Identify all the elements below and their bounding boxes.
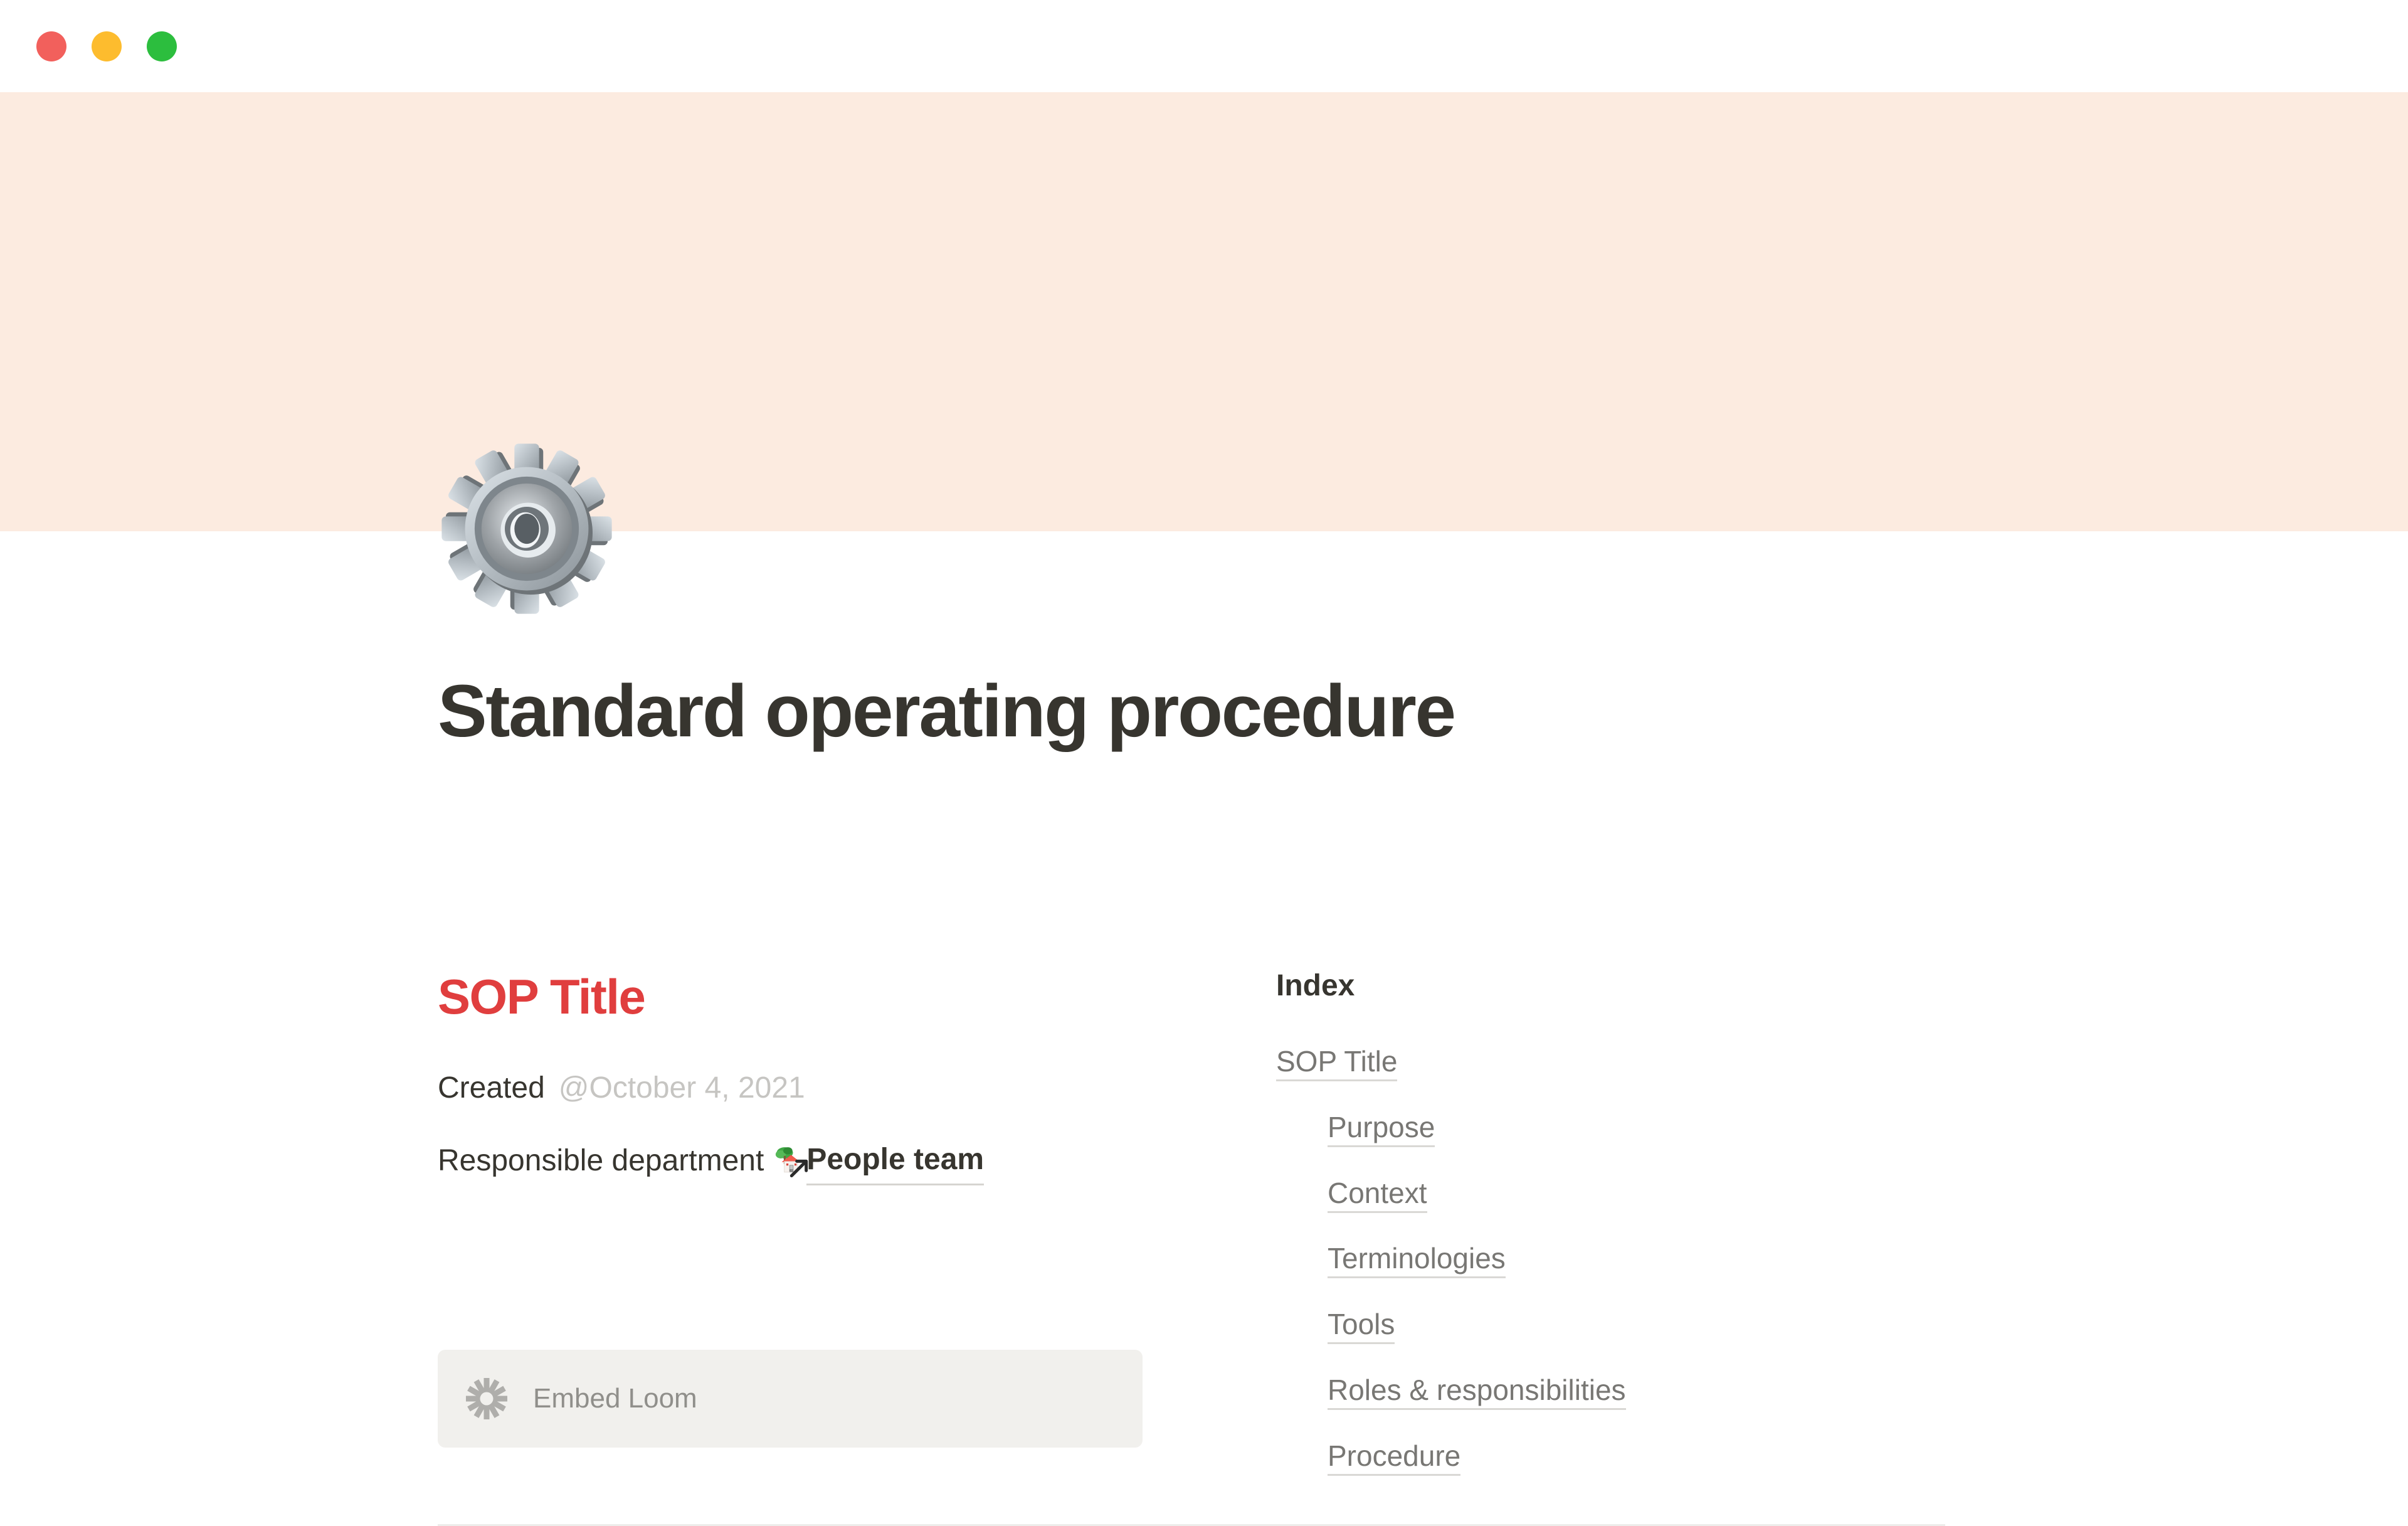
embed-loom-label: Embed Loom [533, 1383, 697, 1414]
minimize-button[interactable] [92, 31, 122, 61]
created-date[interactable]: @October 4, 2021 [559, 1071, 805, 1105]
right-column: Index SOP Title Purpose Context Terminol… [1225, 967, 1945, 1500]
embed-loom-block[interactable]: Embed Loom [438, 1350, 1143, 1448]
loom-icon [464, 1376, 509, 1421]
created-row: Created@October 4, 2021 [438, 1066, 1225, 1111]
close-button[interactable] [36, 31, 66, 61]
index-item-label[interactable]: Tools [1328, 1308, 1395, 1344]
index-item-purpose[interactable]: Purpose [1328, 1106, 1945, 1148]
created-label: Created [438, 1071, 545, 1105]
index-item-label[interactable]: SOP Title [1276, 1045, 1397, 1081]
index-item-terminologies[interactable]: Terminologies [1328, 1237, 1945, 1280]
maximize-button[interactable] [147, 31, 177, 61]
index-item-roles-responsibilities[interactable]: Roles & responsibilities [1328, 1369, 1945, 1411]
index-item-label[interactable]: Context [1328, 1177, 1427, 1213]
page-title[interactable]: Standard operating procedure [438, 669, 1455, 755]
index-item-context[interactable]: Context [1328, 1172, 1945, 1214]
house-with-garden-icon [773, 1145, 805, 1177]
responsible-department-row: Responsible department [438, 1137, 1225, 1185]
window-titlebar [0, 0, 2408, 92]
sop-title-heading[interactable]: SOP Title [438, 967, 1225, 1028]
page-content: Standard operating procedure SOP Title C… [0, 92, 2408, 1505]
gear-icon[interactable] [439, 441, 615, 617]
index-heading: Index [1276, 967, 1945, 1005]
index-item-procedure[interactable]: Procedure [1328, 1435, 1945, 1477]
traffic-light-group [36, 31, 177, 61]
people-team-page-link[interactable]: People team [773, 1137, 984, 1185]
index-item-tools[interactable]: Tools [1328, 1303, 1945, 1345]
people-team-link-label[interactable]: People team [806, 1137, 984, 1185]
responsible-department-label: Responsible department [438, 1138, 764, 1184]
index-item-sop-title[interactable]: SOP Title [1276, 1041, 1945, 1083]
index-item-label[interactable]: Purpose [1328, 1111, 1435, 1147]
left-column: SOP Title Created@October 4, 2021 Respon… [438, 967, 1225, 1185]
index-item-label[interactable]: Roles & responsibilities [1328, 1374, 1626, 1410]
index-item-label[interactable]: Terminologies [1328, 1242, 1506, 1278]
index-item-label[interactable]: Procedure [1328, 1439, 1460, 1476]
